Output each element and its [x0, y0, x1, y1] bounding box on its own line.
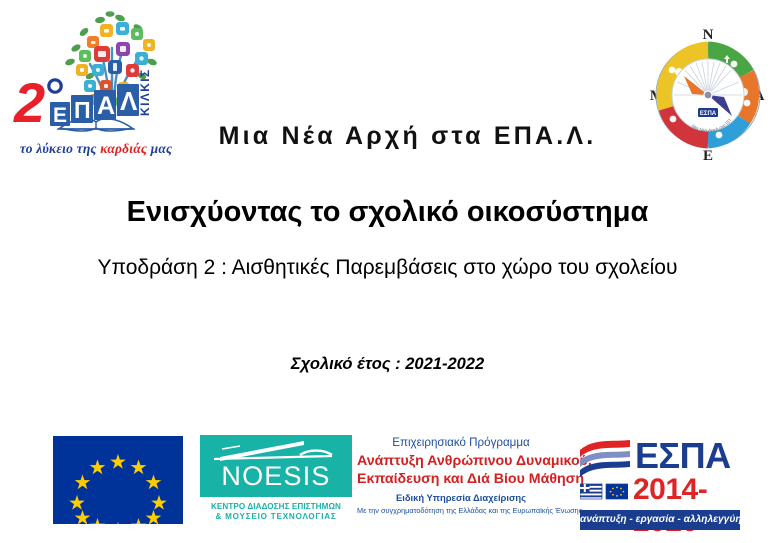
op-line-1: Επιχειρησιακό Πρόγραμμα — [357, 436, 565, 449]
svg-text:Ε: Ε — [53, 104, 67, 127]
tagline-highlight: καρδιάς — [100, 141, 147, 156]
svg-text:ΚΙΛΚΙΣ: ΚΙΛΚΙΣ — [138, 70, 152, 116]
noesis-logo-box: NOESIS — [200, 435, 352, 497]
espa-wordmark: ΕΣΠΑ — [635, 437, 731, 475]
noesis-subtitle-line2: & ΜΟΥΣΕΙΟ ΤΕΧΝΟΛΟΓΙΑΣ — [200, 512, 352, 521]
espa-logo: ΕΣΠΑ 2014-2020 — [578, 432, 743, 537]
svg-text:2: 2 — [13, 71, 45, 134]
noesis-logo: NOESIS ΚΕΝΤΡΟ ΔΙΑΔΟΣΗΣ ΕΠΙΣΤΗΜΩΝ & ΜΟΥΣΕ… — [200, 435, 352, 540]
tagline-part1: το λύκειο της — [20, 141, 100, 156]
page-subtitle: Υποδράση 2 : Αισθητικές Παρεμβάσεις στο … — [0, 256, 775, 280]
noesis-subtitle-line1: ΚΕΝΤΡΟ ΔΙΑΔΟΣΗΣ ΕΠΙΣΤΗΜΩΝ — [200, 502, 352, 511]
school-logo: 2 Ε Π Α Λ ΚΙΛΚΙΣ το λύκειο της καρδιάς μ… — [8, 8, 183, 173]
espa-tagline-bar: ανάπτυξη - εργασία - αλληλεγγύη — [580, 510, 740, 530]
header-band: 2 Ε Π Α Λ ΚΙΛΚΙΣ το λύκειο της καρδιάς μ… — [0, 0, 775, 180]
espa-tagline: ανάπτυξη - εργασία - αλληλεγγύη — [580, 510, 740, 530]
compass-letter-n: N — [703, 27, 714, 43]
school-year-text: Σχολικό έτος : 2021-2022 — [0, 355, 775, 374]
compass-logo: N A E M — [648, 24, 768, 164]
compass-letter-e: E — [703, 148, 713, 164]
espa-waves-graphic — [578, 436, 634, 481]
op-line-3: Εκπαίδευση και Διά Βίου Μάθηση — [357, 471, 565, 487]
espa-flags-graphic — [580, 482, 628, 502]
op-line-5: Με την συγχρηματοδότηση της Ελλάδας και … — [357, 506, 565, 515]
op-line-2: Ανάπτυξη Ανθρώπινου Δυναμικού, — [357, 453, 565, 469]
compass-espa-label: ΕΣΠΑ — [700, 111, 717, 117]
eu-flag-logo — [53, 436, 183, 524]
svg-text:Π: Π — [74, 97, 91, 123]
noesis-wordmark: NOESIS — [200, 461, 352, 491]
banner-headline: Μια Νέα Αρχή στα ΕΠΑ.Λ. — [180, 122, 635, 151]
tagline-part2: μας — [147, 141, 172, 156]
svg-text:Α: Α — [97, 92, 115, 120]
school-logo-tagline: το λύκειο της καρδιάς μας — [10, 141, 182, 157]
operational-programme-logo: Επιχειρησιακό Πρόγραμμα Ανάπτυξη Ανθρώπι… — [357, 432, 565, 537]
epal-wordmark-graphic: 2 Ε Π Α Λ ΚΙΛΚΙΣ — [8, 70, 183, 142]
svg-text:Λ: Λ — [120, 86, 138, 116]
op-line-4: Ειδική Υπηρεσία Διαχείρισης — [357, 492, 565, 503]
page-title: Ενισχύοντας το σχολικό οικοσύστημα — [0, 196, 775, 229]
footer-logo-strip: NOESIS ΚΕΝΤΡΟ ΔΙΑΔΟΣΗΣ ΕΠΙΣΤΗΜΩΝ & ΜΟΥΣΕ… — [0, 425, 775, 543]
